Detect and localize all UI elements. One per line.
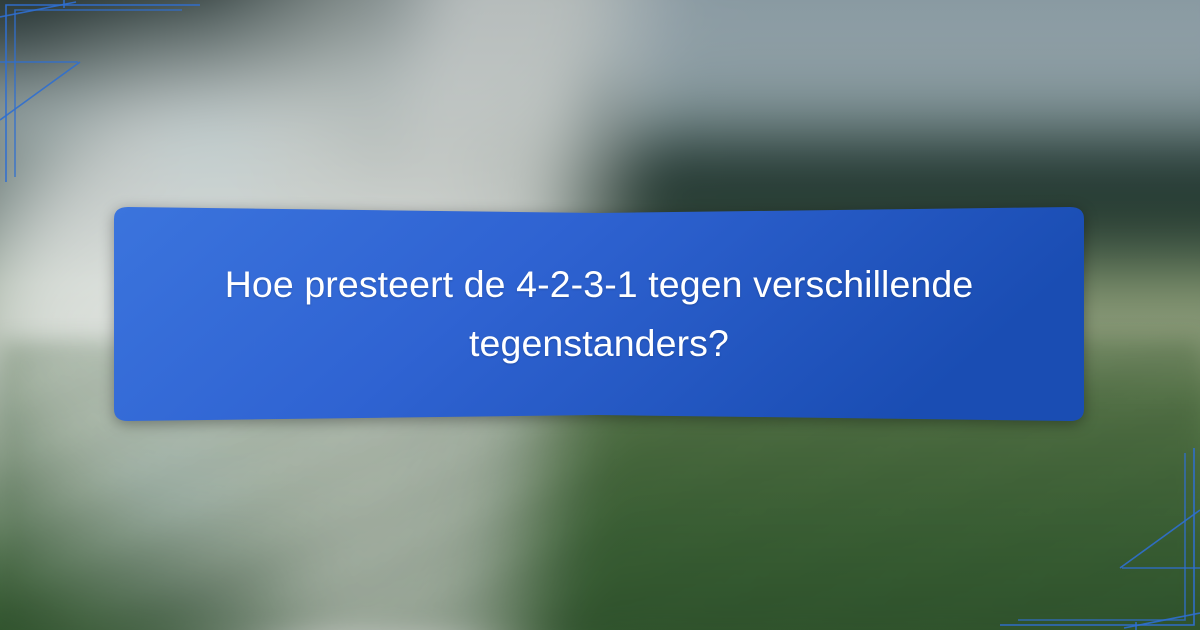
title-card: Hoe presteert de 4-2-3-1 tegen verschill… bbox=[100, 203, 1098, 425]
share-card-canvas: Hoe presteert de 4-2-3-1 tegen verschill… bbox=[0, 0, 1200, 630]
title-text: Hoe presteert de 4-2-3-1 tegen verschill… bbox=[189, 255, 1009, 373]
